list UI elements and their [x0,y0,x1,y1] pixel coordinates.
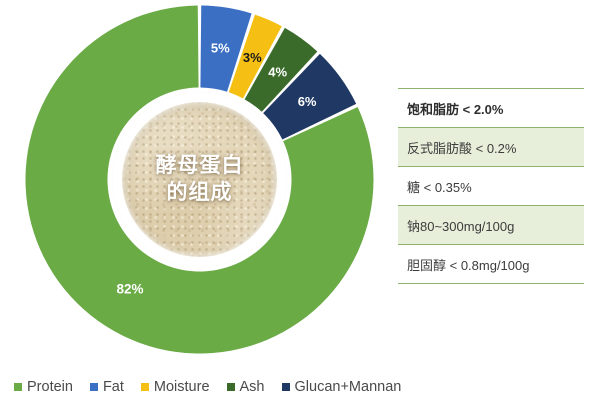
spec-row: 反式脂肪酸 < 0.2% [398,127,584,166]
spec-row: 钠80~300mg/100g [398,205,584,244]
legend-swatch-icon [141,383,149,391]
center-label-line2: 的组成 [167,181,233,205]
donut-chart: 5%3%4%6%82% 酵母蛋白 的组成 [20,4,378,356]
spec-row-text: 糖 < 0.35% [407,177,472,196]
spec-row: 胆固醇 < 0.8mg/100g [398,244,584,283]
legend-item-label: Glucan+Mannan [295,379,402,395]
legend-item-protein[interactable]: Protein [14,379,73,395]
legend-item-glucan-mannan[interactable]: Glucan+Mannan [282,379,402,395]
donut-center-label: 酵母蛋白 的组成 [112,92,287,267]
legend-item-moisture[interactable]: Moisture [141,379,210,395]
legend-swatch-icon [90,383,98,391]
spec-row-text: 饱和脂肪 < 2.0% [407,99,503,118]
spec-row-text: 胆固醇 < 0.8mg/100g [407,255,529,274]
spec-row-text: 钠80~300mg/100g [407,216,514,235]
spec-row: 饱和脂肪 < 2.0% [398,88,584,127]
slice-label-glucan-mannan: 6% [298,94,317,109]
slice-label-protein: 82% [116,282,143,297]
slice-label-moisture: 3% [243,50,262,65]
legend-item-label: Moisture [154,379,210,395]
legend-item-label: Fat [103,379,124,395]
center-label-line1: 酵母蛋白 [156,154,244,178]
slice-label-ash: 4% [268,64,287,79]
legend-swatch-icon [227,383,235,391]
legend-item-fat[interactable]: Fat [90,379,124,395]
table-bottom-divider [398,283,584,284]
legend-item-label: Ash [240,379,265,395]
slice-label-fat: 5% [211,41,230,56]
chart-legend: ProteinFatMoistureAshGlucan+Mannan [14,379,401,395]
legend-item-label: Protein [27,379,73,395]
spec-row: 糖 < 0.35% [398,166,584,205]
nutrition-spec-table: 饱和脂肪 < 2.0%反式脂肪酸 < 0.2%糖 < 0.35%钠80~300m… [398,88,584,284]
legend-swatch-icon [282,383,290,391]
legend-item-ash[interactable]: Ash [227,379,265,395]
spec-row-text: 反式脂肪酸 < 0.2% [407,138,516,157]
legend-swatch-icon [14,383,22,391]
